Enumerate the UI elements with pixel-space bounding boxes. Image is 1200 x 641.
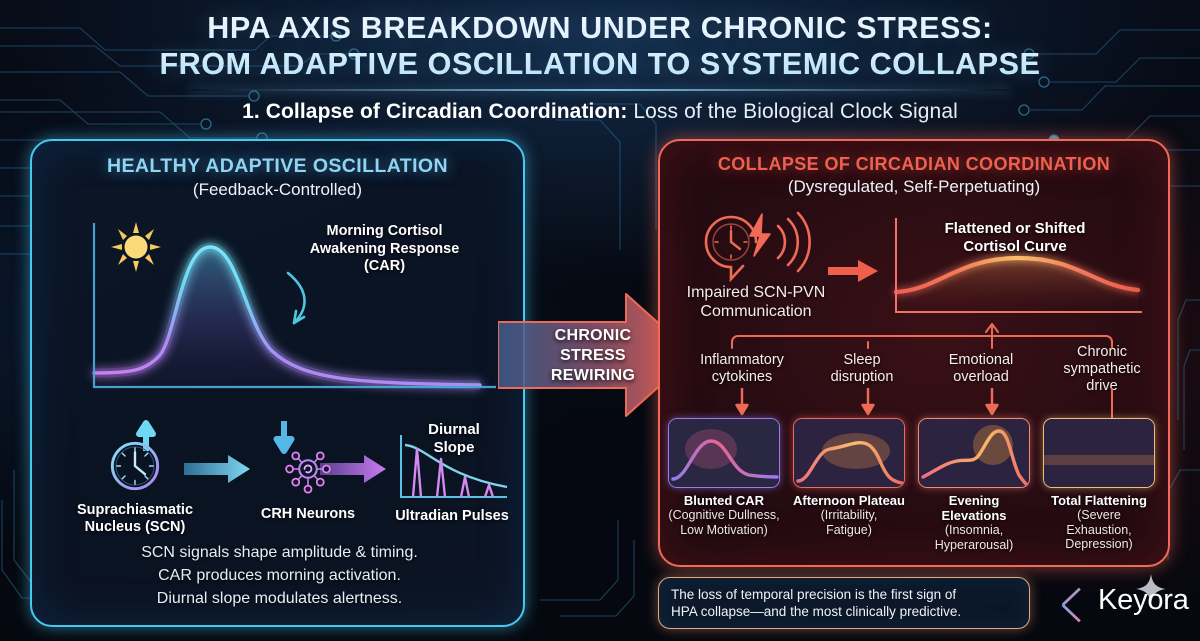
- brand-name: Keyora: [1098, 584, 1189, 617]
- driver-down-arrows: [670, 388, 1160, 420]
- car-label-line-1: Morning Cortisol: [282, 223, 487, 241]
- card-1-title: Afternoon Plateau: [793, 493, 905, 508]
- footnote-line-3: Diurnal slope modulates alertness.: [52, 587, 507, 610]
- quote-text: The loss of temporal precision is the fi…: [671, 586, 961, 620]
- quote-line-2: HPA collapse—and the most clinically pre…: [671, 604, 961, 619]
- card-1-sub-1: (Irritability,: [793, 508, 905, 523]
- right-panel-title: COLLAPSE OF CIRCADIAN COORDINATION: [660, 154, 1168, 175]
- card-0-sub-1: (Cognitive Dullness,: [668, 508, 780, 523]
- car-label: Morning Cortisol Awakening Response (CAR…: [282, 223, 487, 276]
- impaired-to-curve-arrow: [828, 258, 880, 284]
- diurnal-slope-label: Diurnal Slope: [404, 421, 504, 457]
- flattened-curve-label: Flattened or Shifted Cortisol Curve: [905, 220, 1125, 256]
- driver-2-line-1: Emotional: [922, 352, 1040, 369]
- healthy-oscillation-panel: HEALTHY ADAPTIVE OSCILLATION (Feedback-C…: [30, 139, 525, 627]
- flattened-line-1: Flattened or Shifted: [905, 220, 1125, 238]
- diurnal-slope-line-1: Diurnal: [404, 421, 504, 439]
- section-subtitle: 1. Collapse of Circadian Coordination: L…: [0, 100, 1200, 124]
- section-subtitle-rest: Loss of the Biological Clock Signal: [627, 100, 957, 123]
- clock-icon: [106, 437, 164, 495]
- card-3-sub-1: (Severe Exhaustion,: [1043, 508, 1155, 537]
- stage-scn-label-line-2: Nucleus (SCN): [70, 519, 200, 536]
- arrow-label-line-1: CHRONIC: [528, 326, 658, 346]
- car-label-line-3: (CAR): [282, 258, 487, 276]
- card-3-sub-2: Depression): [1043, 537, 1155, 552]
- title-line-2: FROM ADAPTIVE OSCILLATION TO SYSTEMIC CO…: [0, 46, 1200, 82]
- card-0-title: Blunted CAR: [668, 493, 780, 508]
- card-blunted-car[interactable]: Blunted CAR (Cognitive Dullness, Low Mot…: [668, 418, 780, 537]
- driver-0-line-1: Inflammatory: [678, 352, 806, 369]
- infographic-root: HPA AXIS BREAKDOWN UNDER CHRONIC STRESS:…: [0, 0, 1200, 641]
- chronic-stress-arrow-label: CHRONIC STRESS REWIRING: [528, 326, 658, 386]
- driver-3-line-2: sympathetic: [1044, 361, 1160, 378]
- healthy-cortisol-chart: Morning Cortisol Awakening Response (CAR…: [60, 205, 500, 405]
- diurnal-slope-line-2: Slope: [404, 439, 504, 457]
- brand-logo[interactable]: Keyora: [1052, 578, 1182, 628]
- footnote-line-1: SCN signals shape amplitude & timing.: [52, 541, 507, 564]
- card-3-title: Total Flattening: [1043, 493, 1155, 508]
- left-panel-subtitle: (Feedback-Controlled): [32, 180, 523, 200]
- impaired-line-1: Impaired SCN-PVN: [672, 283, 840, 302]
- arrow-label-line-3: REWIRING: [528, 366, 658, 386]
- neuron-network-icon: [280, 441, 336, 497]
- total-flattening-thumb: [1043, 418, 1155, 488]
- card-2-sub-2: Hyperarousal): [918, 538, 1030, 553]
- stage-scn: Suprachiasmatic Nucleus (SCN): [70, 437, 200, 536]
- card-1-sub-2: Fatigue): [793, 523, 905, 538]
- driver-inflammatory: Inflammatory cytokines: [678, 352, 806, 386]
- left-panel-title: HEALTHY ADAPTIVE OSCILLATION: [32, 155, 523, 178]
- stage-ultradian-label: Ultradian Pulses: [388, 508, 516, 525]
- car-label-line-2: Awakening Response: [282, 241, 487, 259]
- driver-0-line-2: cytokines: [678, 369, 806, 386]
- impaired-communication-label: Impaired SCN-PVN Communication: [672, 283, 840, 321]
- section-subtitle-bold: 1. Collapse of Circadian Coordination:: [242, 100, 627, 123]
- right-panel-subtitle: (Dysregulated, Self-Perpetuating): [660, 177, 1168, 197]
- key-insight-callout: The loss of temporal precision is the fi…: [658, 577, 1030, 629]
- stage-scn-label: Suprachiasmatic Nucleus (SCN): [70, 502, 200, 536]
- driver-2-line-2: overload: [922, 369, 1040, 386]
- impaired-line-2: Communication: [672, 302, 840, 321]
- card-afternoon-plateau[interactable]: Afternoon Plateau (Irritability, Fatigue…: [793, 418, 905, 537]
- driver-3-line-1: Chronic: [1044, 344, 1160, 361]
- arrow-label-line-2: STRESS: [528, 346, 658, 366]
- card-0-sub-2: Low Motivation): [668, 523, 780, 538]
- card-2-sub-1: (Insomnia,: [918, 523, 1030, 538]
- driver-1-line-1: Sleep: [808, 352, 916, 369]
- stage-crh-label: CRH Neurons: [248, 506, 368, 523]
- title-divider: [190, 89, 1010, 91]
- driver-1-line-2: disruption: [808, 369, 916, 386]
- blunted-car-thumb: [668, 418, 780, 488]
- stage-scn-label-line-1: Suprachiasmatic: [70, 502, 200, 519]
- card-2-title: Evening Elevations: [918, 493, 1030, 523]
- impaired-clock-signal-icon: [700, 208, 820, 282]
- evening-elevation-thumb: [918, 418, 1030, 488]
- keyora-k-logo: [1052, 586, 1088, 624]
- title-line-1: HPA AXIS BREAKDOWN UNDER CHRONIC STRESS:: [207, 11, 992, 45]
- header: HPA AXIS BREAKDOWN UNDER CHRONIC STRESS:…: [0, 0, 1200, 124]
- sun-icon: [108, 219, 164, 275]
- footnote-line-2: CAR produces morning activation.: [52, 564, 507, 587]
- flattened-line-2: Cortisol Curve: [905, 238, 1125, 256]
- left-panel-footnote: SCN signals shape amplitude & timing. CA…: [52, 541, 507, 610]
- card-total-flattening[interactable]: Total Flattening (Severe Exhaustion, Dep…: [1043, 418, 1155, 552]
- scn-pathway-row: Suprachiasmatic Nucleus (SCN): [52, 419, 507, 539]
- page-title: HPA AXIS BREAKDOWN UNDER CHRONIC STRESS:…: [0, 0, 1200, 82]
- driver-sleep: Sleep disruption: [808, 352, 916, 386]
- card-evening-elevations[interactable]: Evening Elevations (Insomnia, Hyperarous…: [918, 418, 1030, 552]
- stage-crh: CRH Neurons: [248, 441, 368, 523]
- driver-emotional: Emotional overload: [922, 352, 1040, 386]
- afternoon-plateau-thumb: [793, 418, 905, 488]
- quote-line-1: The loss of temporal precision is the fi…: [671, 587, 956, 602]
